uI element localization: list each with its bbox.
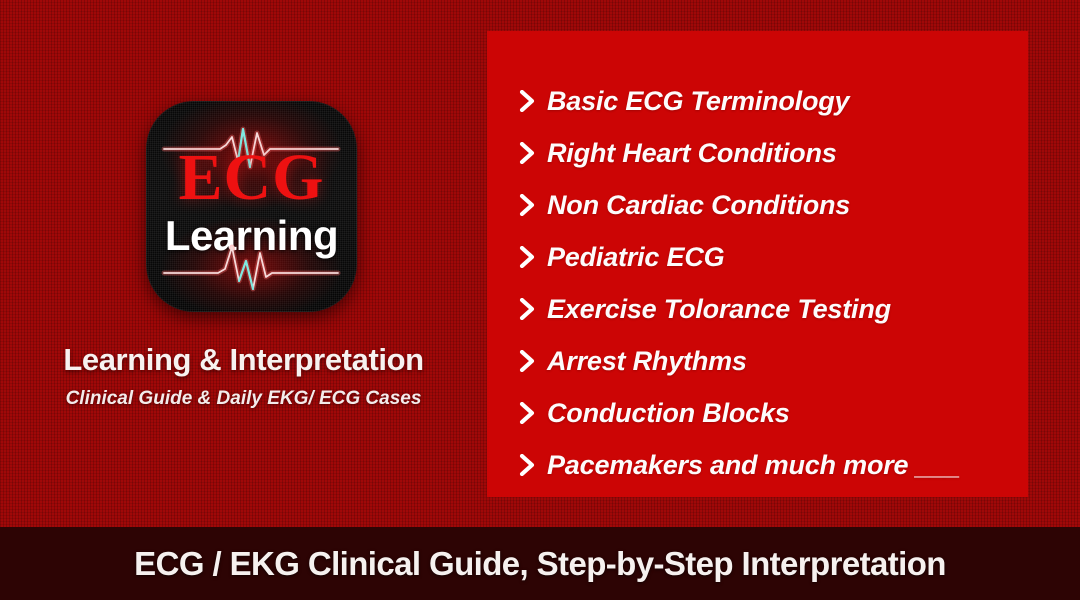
list-item-label: Exercise Tolorance Testing — [547, 293, 891, 325]
list-item[interactable]: Pediatric ECG — [487, 231, 1028, 283]
app-icon-ecg-text: ECG — [146, 145, 357, 211]
chevron-right-icon — [513, 194, 541, 216]
list-item-label: Conduction Blocks — [547, 397, 790, 429]
chevron-right-icon — [513, 350, 541, 372]
list-item[interactable]: Arrest Rhythms — [487, 335, 1028, 387]
feature-list: Basic ECG Terminology Right Heart Condit… — [487, 75, 1028, 491]
brand-title: Learning & Interpretation — [0, 340, 487, 380]
brand-subtitle: Clinical Guide & Daily EKG/ ECG Cases — [0, 386, 487, 412]
list-item[interactable]: Conduction Blocks — [487, 387, 1028, 439]
list-item-label: Basic ECG Terminology — [547, 85, 849, 117]
list-item-label: Non Cardiac Conditions — [547, 189, 850, 221]
list-item-label: Arrest Rhythms — [547, 345, 747, 377]
list-item[interactable]: Pacemakers and much more ___ — [487, 439, 1028, 491]
chevron-right-icon — [513, 246, 541, 268]
bottom-banner: ECG / EKG Clinical Guide, Step-by-Step I… — [0, 527, 1080, 600]
feature-panel: Basic ECG Terminology Right Heart Condit… — [487, 31, 1028, 497]
list-item[interactable]: Basic ECG Terminology — [487, 75, 1028, 127]
list-item-label: Right Heart Conditions — [547, 137, 837, 169]
chevron-right-icon — [513, 402, 541, 424]
promo-banner-stage: ECG Learning Learning & Interpretation C… — [0, 0, 1080, 600]
list-item-label: Pacemakers and much more ___ — [547, 449, 960, 481]
list-item[interactable]: Right Heart Conditions — [487, 127, 1028, 179]
app-icon[interactable]: ECG Learning — [146, 101, 357, 312]
list-item[interactable]: Non Cardiac Conditions — [487, 179, 1028, 231]
ecg-waveform-icon — [146, 237, 357, 299]
chevron-right-icon — [513, 142, 541, 164]
list-item[interactable]: Exercise Tolorance Testing — [487, 283, 1028, 335]
list-item-label: Pediatric ECG — [547, 241, 724, 273]
chevron-right-icon — [513, 298, 541, 320]
chevron-right-icon — [513, 454, 541, 476]
banner-text: ECG / EKG Clinical Guide, Step-by-Step I… — [134, 544, 946, 584]
chevron-right-icon — [513, 90, 541, 112]
brand-column: ECG Learning Learning & Interpretation C… — [0, 0, 487, 527]
